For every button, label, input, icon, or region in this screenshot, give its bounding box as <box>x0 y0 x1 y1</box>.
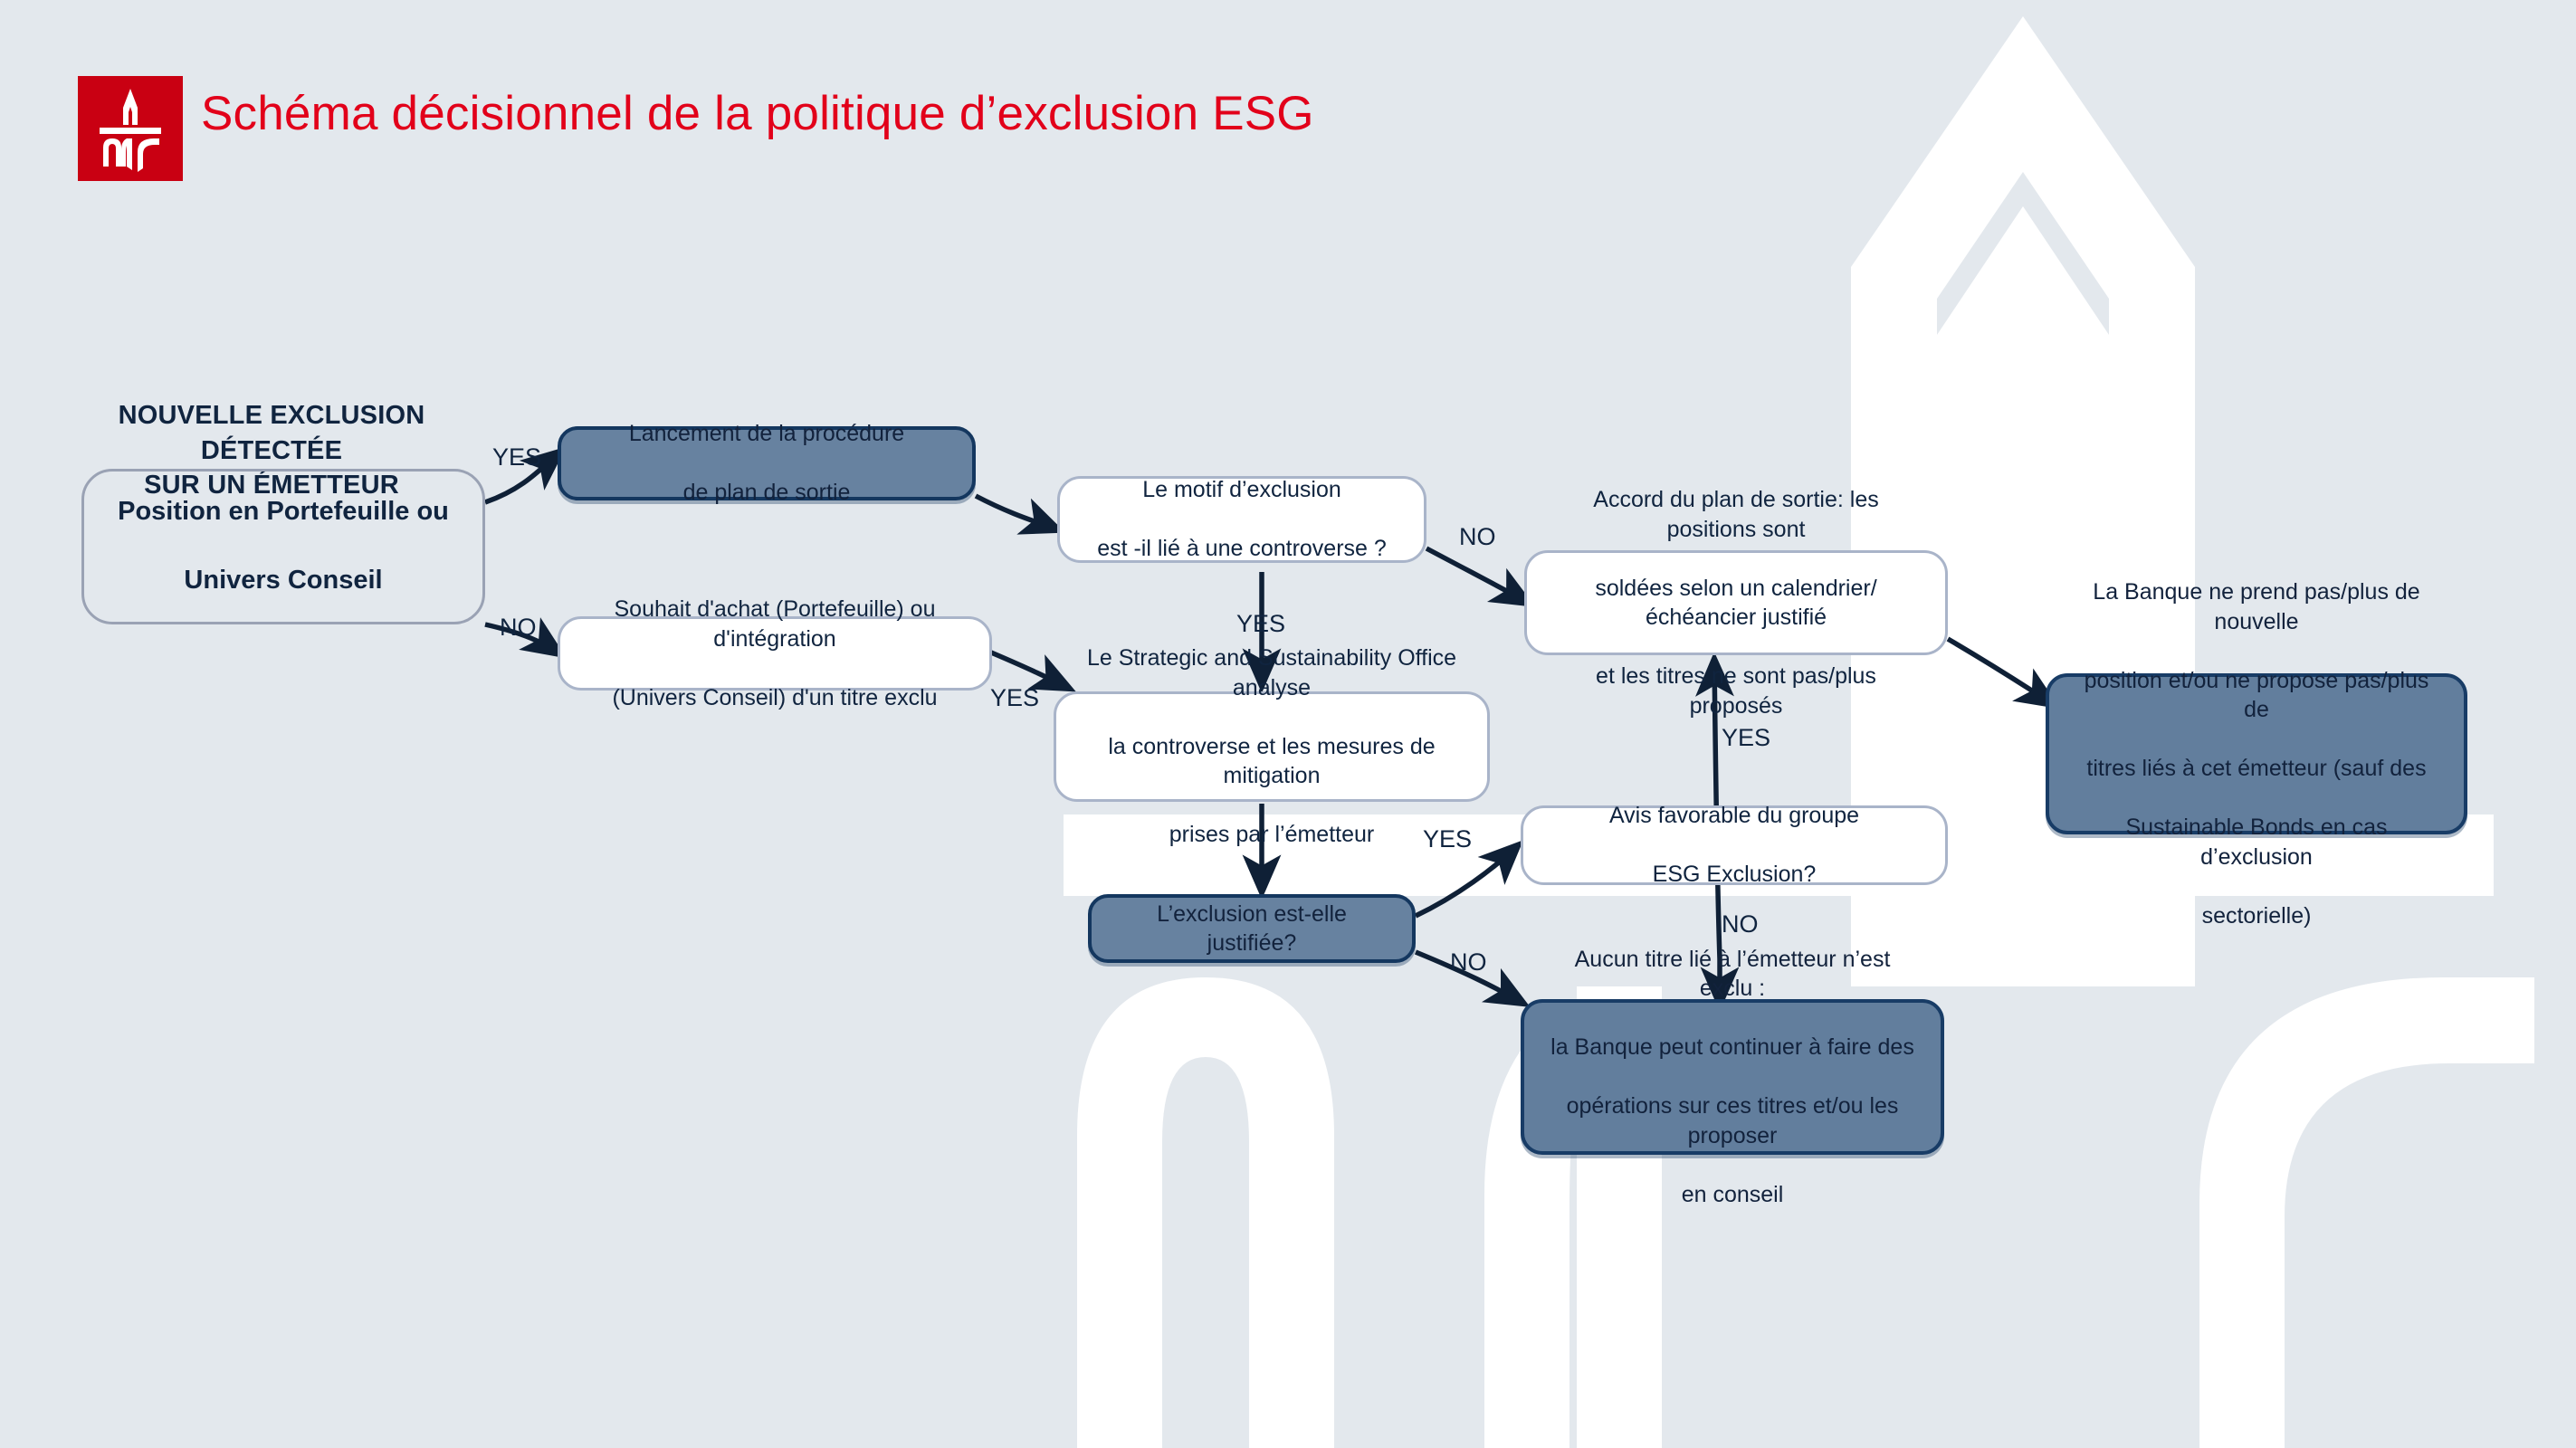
node-accord-plan-sortie[interactable]: Accord du plan de sortie: les positions … <box>1524 550 1948 655</box>
node-motif-line-2: est -il lié à une controverse ? <box>1073 534 1411 564</box>
node-avis-line-2: ESG Exclusion? <box>1536 860 1932 890</box>
node-lancement-plan-sortie[interactable]: Lancement de la procédure de plan de sor… <box>558 426 976 500</box>
edge-label-avis-to-accord: YES <box>1722 724 1770 752</box>
node-aucun-titre-exclu[interactable]: Aucun titre lié à l’émetteur n’est exclu… <box>1521 999 1944 1155</box>
node-accord-line-1: Accord du plan de sortie: les positions … <box>1540 485 1932 544</box>
node-sso-line-1: Le Strategic and Sustainability Office a… <box>1069 643 1474 702</box>
node-start-line-2: Univers Conseil <box>97 564 470 598</box>
node-souhait-line-2: (Univers Conseil) d'un titre exclu <box>573 683 977 713</box>
node-motif-line-1: Le motif d’exclusion <box>1073 475 1411 505</box>
node-lancement-line-1: Lancement de la procédure <box>574 419 959 449</box>
node-sso-analyse-controverse[interactable]: Le Strategic and Sustainability Office a… <box>1054 691 1490 802</box>
edge-label-souhait-to-sso: YES <box>990 684 1039 712</box>
node-banque-ne-prend-plus[interactable]: La Banque ne prend pas/plus de nouvelle … <box>2046 673 2467 834</box>
edge-label-start-to-souhait: NO <box>500 614 537 642</box>
node-aucun-line-3: opérations sur ces titres et/ou les prop… <box>1537 1091 1928 1150</box>
node-aucun-line-1: Aucun titre lié à l’émetteur n’est exclu… <box>1537 945 1928 1004</box>
node-sso-line-2: la controverse et les mesures de mitigat… <box>1069 732 1474 791</box>
node-aucun-line-2: la Banque peut continuer à faire des <box>1537 1033 1928 1062</box>
node-aucun-line-4: en conseil <box>1537 1180 1928 1210</box>
node-exclusion-justifiee[interactable]: L’exclusion est-elle justifiée? <box>1088 894 1416 963</box>
node-start-position-portefeuille[interactable]: Position en Portefeuille ou Univers Cons… <box>81 469 485 624</box>
node-banque-line-2: position et/ou ne propose pas/plus de <box>2062 666 2451 725</box>
node-lancement-line-2: de plan de sortie <box>574 478 959 508</box>
diagram-canvas: Schéma décisionnel de la politique d’exc… <box>0 0 2576 1448</box>
node-justifiee-line-1: L’exclusion est-elle justifiée? <box>1104 900 1399 958</box>
node-banque-line-3: titres liés à cet émetteur (sauf des <box>2062 754 2451 784</box>
edge-label-motif-to-sso: YES <box>1236 610 1285 638</box>
node-banque-line-1: La Banque ne prend pas/plus de nouvelle <box>2062 577 2451 636</box>
node-accord-line-3: et les titres ne sont pas/plus proposés <box>1540 662 1932 720</box>
node-accord-line-2: soldées selon un calendrier/échéancier j… <box>1540 574 1932 633</box>
section-label-line-1: NOUVELLE EXCLUSION DÉTECTÉE <box>72 398 471 468</box>
node-souhait-line-1: Souhait d'achat (Portefeuille) ou d'inté… <box>573 595 977 653</box>
node-avis-line-1: Avis favorable du groupe <box>1536 801 1932 831</box>
edge-label-avis-to-aucun: NO <box>1722 910 1759 938</box>
page-header: Schéma décisionnel de la politique d’exc… <box>0 0 2576 181</box>
page-title: Schéma décisionnel de la politique d’exc… <box>201 86 1314 141</box>
cic-spire-logo-icon <box>78 76 183 181</box>
node-souhait-achat[interactable]: Souhait d'achat (Portefeuille) ou d'inté… <box>558 616 992 691</box>
node-motif-exclusion-controverse[interactable]: Le motif d’exclusion est -il lié à une c… <box>1057 476 1426 563</box>
edge-label-start-to-lancement: YES <box>492 443 541 472</box>
node-start-line-1: Position en Portefeuille ou <box>97 495 470 529</box>
node-banque-line-5: sectorielle) <box>2062 901 2451 931</box>
edge-label-justifiee-to-aucun: NO <box>1450 948 1487 976</box>
node-sso-line-3: prises par l’émetteur <box>1069 820 1474 850</box>
node-banque-line-4: Sustainable Bonds en cas d’exclusion <box>2062 813 2451 872</box>
node-avis-favorable-esg[interactable]: Avis favorable du groupe ESG Exclusion? <box>1521 805 1948 885</box>
edge-label-motif-to-accord: NO <box>1459 523 1496 551</box>
edge-label-justifiee-to-avis: YES <box>1423 825 1472 853</box>
